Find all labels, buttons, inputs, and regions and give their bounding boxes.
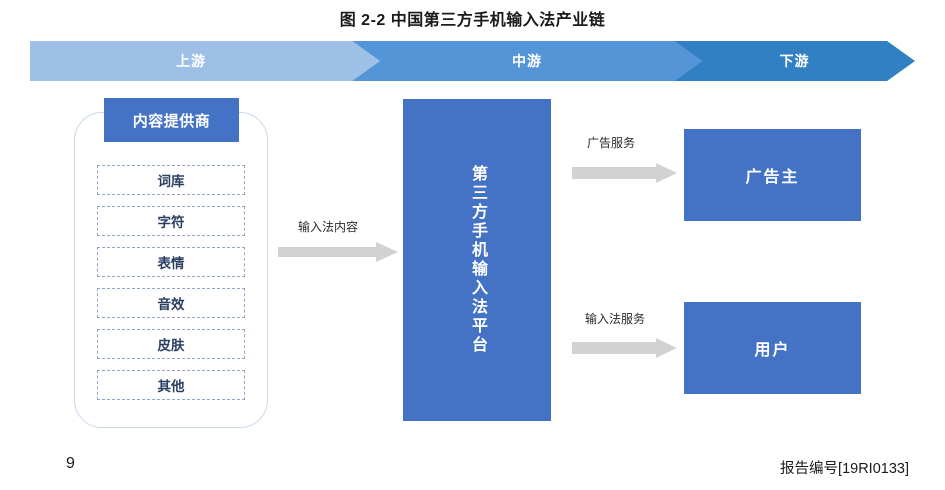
page-title: 图 2-2 中国第三方手机输入法产业链 bbox=[0, 6, 945, 30]
flow-arrow-content bbox=[278, 242, 398, 262]
list-item: 词库 bbox=[97, 165, 245, 195]
platform-box-label: 第三方手机输入法平台 bbox=[469, 165, 485, 355]
stage-label-upstream: 上游 bbox=[176, 51, 206, 71]
content-item-label: 字符 bbox=[158, 211, 185, 231]
flow-arrow-ime-service bbox=[572, 338, 677, 358]
list-item: 表情 bbox=[97, 247, 245, 277]
user-box: 用户 bbox=[684, 302, 861, 394]
advertiser-box: 广告主 bbox=[684, 129, 861, 221]
arrow-right-icon bbox=[572, 338, 677, 358]
value-chain-stage-banner: 上游 中游 下游 bbox=[30, 41, 915, 81]
content-item-label: 其他 bbox=[158, 375, 185, 395]
stage-label-midstream: 中游 bbox=[512, 51, 542, 71]
list-item: 字符 bbox=[97, 206, 245, 236]
platform-box: 第三方手机输入法平台 bbox=[403, 99, 551, 421]
flow-arrow-ime-service-label: 输入法服务 bbox=[585, 310, 645, 327]
list-item: 其他 bbox=[97, 370, 245, 400]
content-item-label: 皮肤 bbox=[158, 334, 185, 354]
content-provider-header: 内容提供商 bbox=[104, 98, 239, 142]
advertiser-box-label: 广告主 bbox=[745, 163, 799, 187]
content-item-label: 音效 bbox=[158, 293, 185, 313]
flow-arrow-content-label: 输入法内容 bbox=[298, 218, 358, 235]
arrow-right-icon bbox=[572, 163, 677, 183]
flow-arrow-ad-service-label: 广告服务 bbox=[587, 134, 635, 151]
stage-label-downstream: 下游 bbox=[780, 51, 810, 71]
content-item-label: 词库 bbox=[158, 170, 185, 190]
user-box-label: 用户 bbox=[754, 336, 790, 360]
report-number: 报告编号[19RI0133] bbox=[780, 457, 909, 478]
content-item-label: 表情 bbox=[158, 252, 185, 272]
list-item: 皮肤 bbox=[97, 329, 245, 359]
content-provider-header-label: 内容提供商 bbox=[133, 110, 211, 131]
list-item: 音效 bbox=[97, 288, 245, 318]
flow-arrow-ad-service bbox=[572, 163, 677, 183]
content-provider-item-list: 词库 字符 表情 音效 皮肤 其他 bbox=[97, 165, 245, 400]
stage-chevron-downstream: 下游 bbox=[674, 41, 915, 81]
stage-chevron-upstream: 上游 bbox=[30, 41, 380, 81]
arrow-right-icon bbox=[278, 242, 398, 262]
page-number: 9 bbox=[66, 455, 75, 473]
stage-chevron-midstream: 中游 bbox=[352, 41, 702, 81]
